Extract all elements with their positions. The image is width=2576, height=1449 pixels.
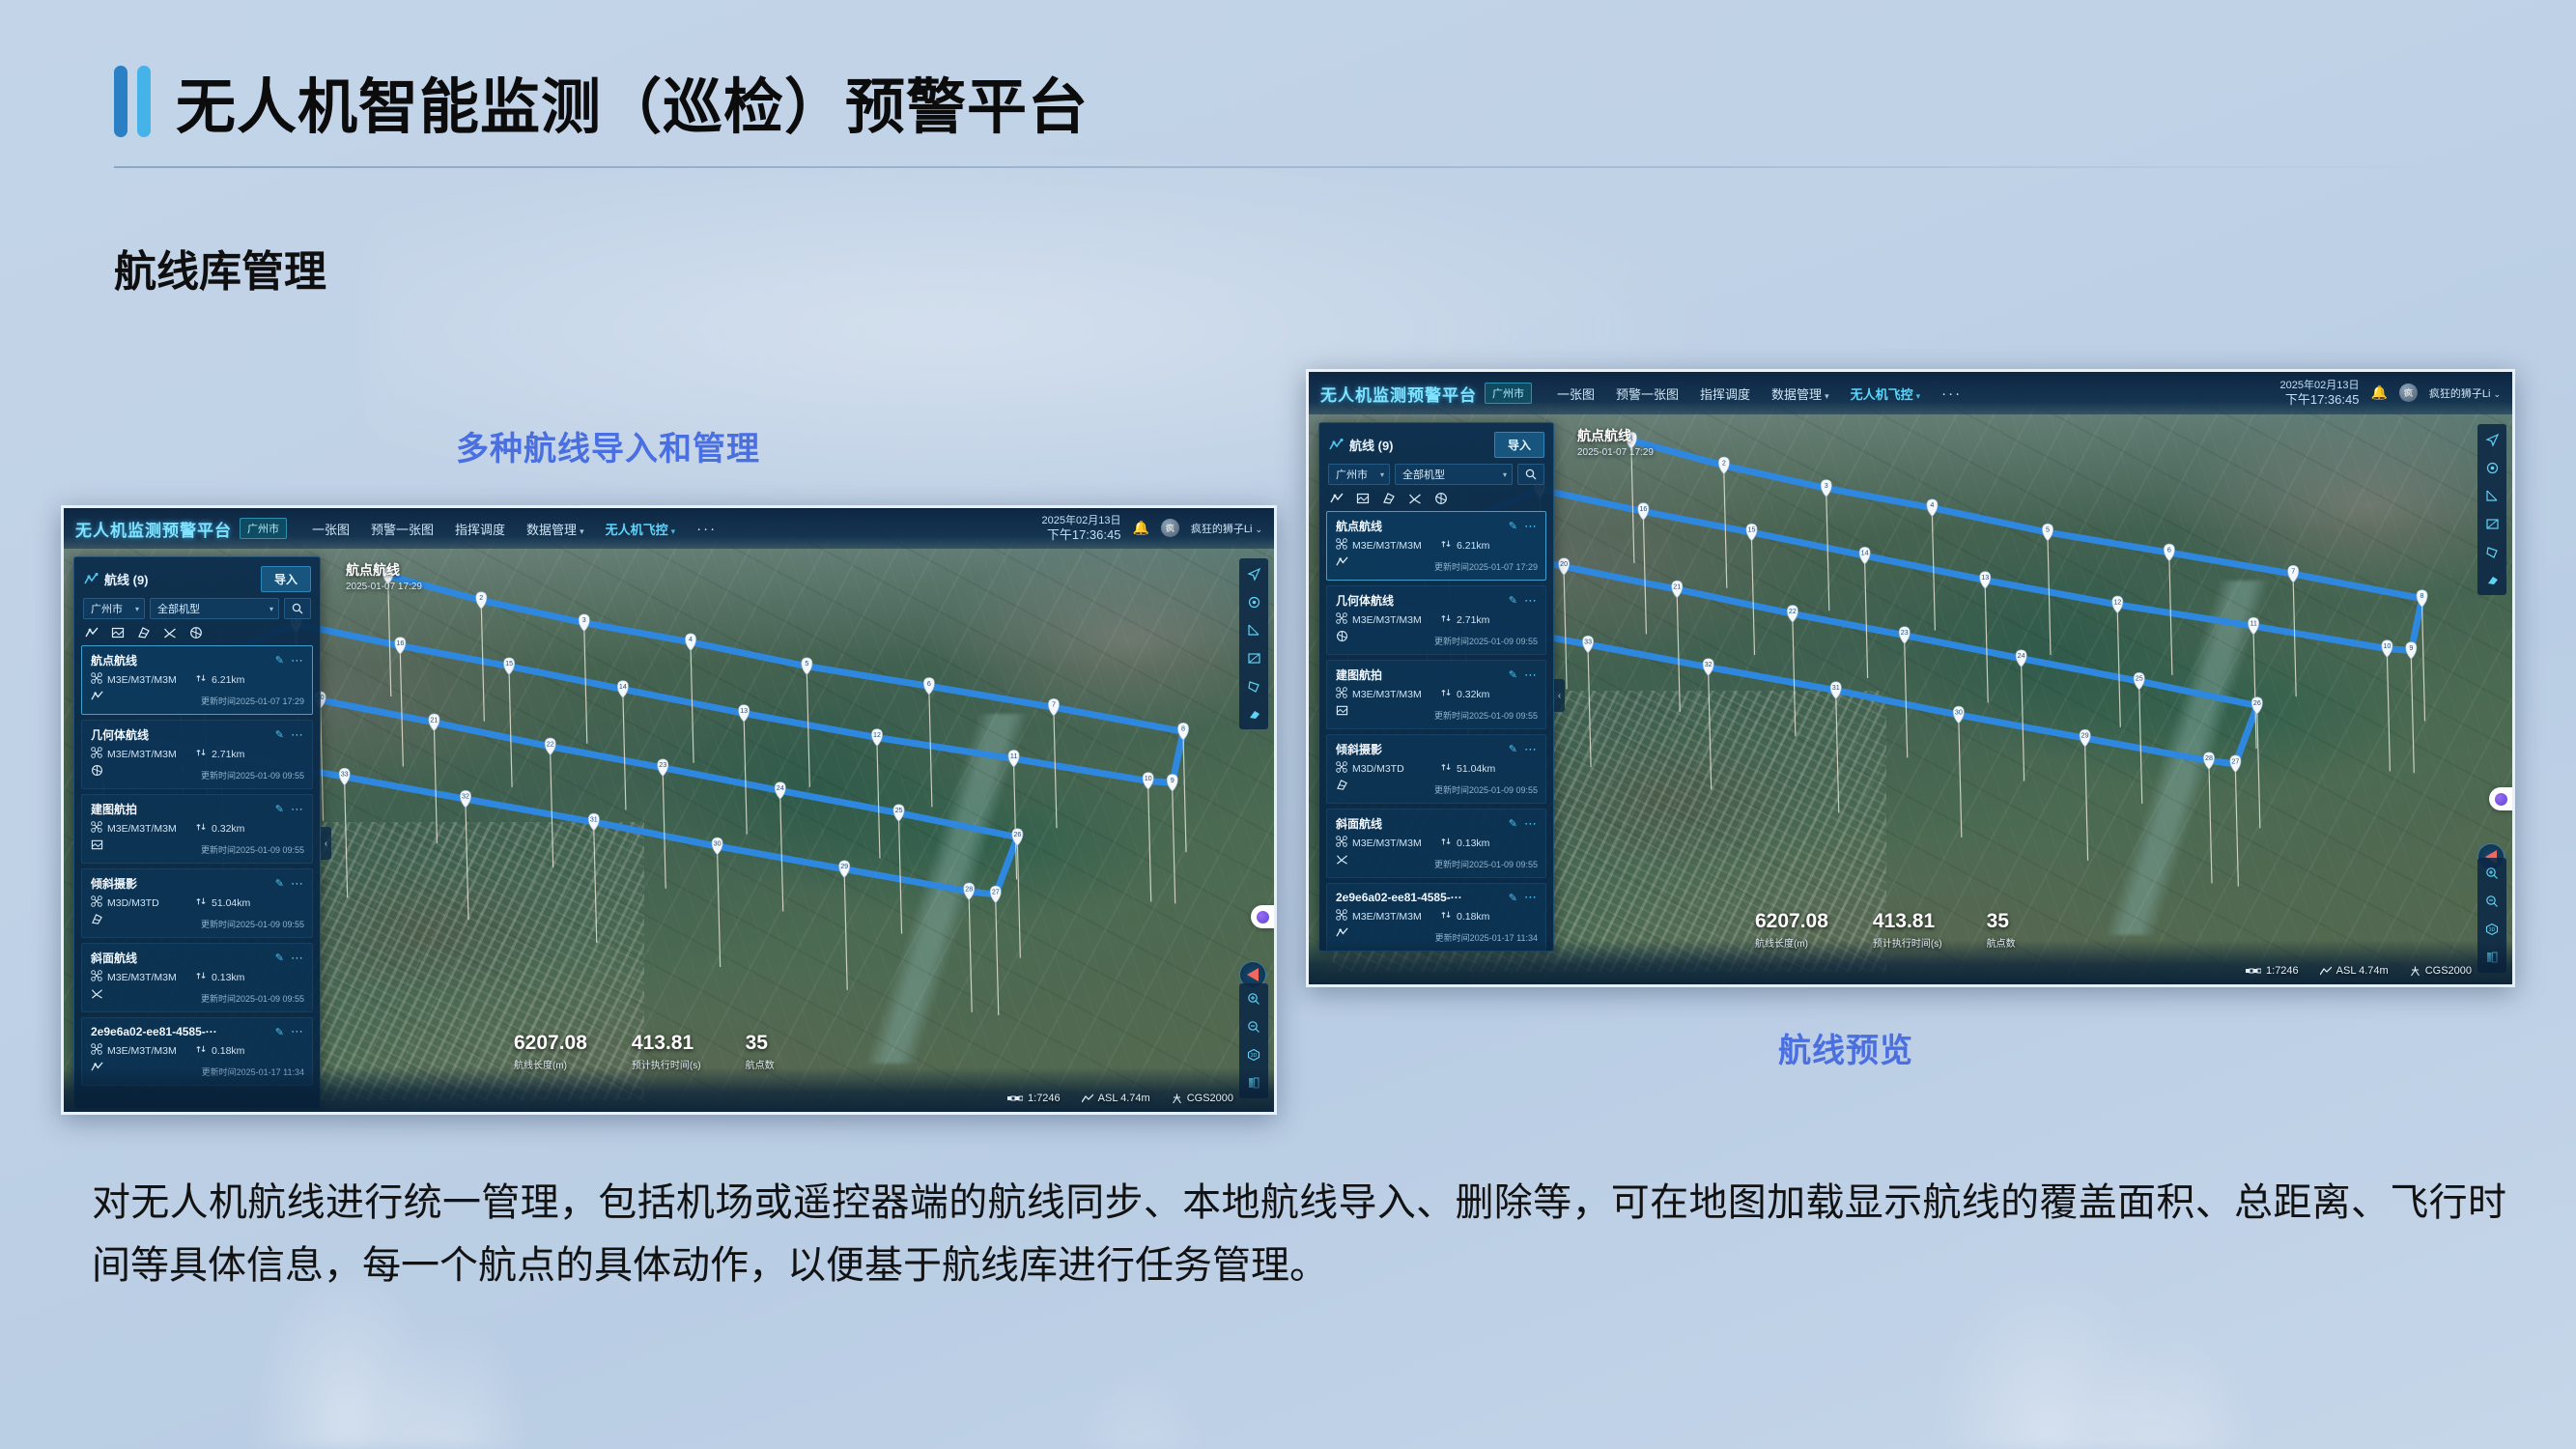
more-dots-icon[interactable]: ⋯ [1524,519,1538,534]
map-status-bar: 1:7246 ASL 4.74m CGS2000 [1007,1093,1233,1104]
selected-route-name: 航点航线 [346,560,422,580]
panel-collapse-button[interactable]: ‹ [1554,679,1565,712]
geometry-route-icon[interactable] [1434,492,1448,505]
route-distance: 51.04km [195,895,250,910]
coordinate-system-icon [1172,1094,1182,1104]
crs-indicator: CGS2000 [1172,1093,1233,1104]
edit-icon[interactable]: ✎ [1509,668,1517,681]
stat-item: 35航点数 [746,1033,775,1071]
city-chip[interactable]: 广州市 [1485,383,1532,404]
chevron-down-icon: ▾ [671,526,676,536]
distance-icon [195,747,207,761]
3d-view-icon[interactable]: 3D [2483,921,2501,938]
screenshot-route-management: 1234567891011121314151617181920212223242… [61,505,1277,1115]
route-card[interactable]: 几何体航线 ✎ ⋯ M3E/M3T/M3M 2.71km 更新时间2025-01… [81,720,313,789]
distance-icon [195,672,207,687]
nav-label: 预警一张图 [371,523,434,537]
route-model: M3D/M3TD [91,895,195,910]
selected-route-date: 2025-01-07 17:29 [1577,447,1654,458]
route-distance: 0.18km [1440,909,1489,923]
panel-header: 航线 (9) 导入 [1319,423,1553,464]
ai-assistant-button[interactable] [2489,787,2512,810]
distance-icon [195,970,207,984]
city-select-value: 广州市 [1336,467,1368,482]
route-icon [1329,439,1344,451]
panel-title: 航线 (9) [1349,436,1394,454]
stat-item: 413.81预计执行时间(s) [1873,911,1942,950]
username[interactable]: 疯狂的狮子Li⌄ [2429,385,2501,401]
route-updated-time: 更新时间2025-01-09 09:55 [201,769,304,781]
nav-item-0[interactable]: 一张图 [312,520,350,538]
page-title: 无人机智能监测（巡检）预警平台 [176,58,1089,145]
route-card[interactable]: 倾斜摄影 ✎ ⋯ M3D/M3TD 51.04km 更新时间2025-01-09… [1326,734,1546,804]
stat-label: 航线长度(m) [514,1057,587,1071]
more-dots-icon[interactable]: ⋯ [1524,668,1538,683]
main-nav: 一张图 预警一张图 指挥调度 数据管理▾ 无人机飞控▾ ··· [312,520,717,538]
coordinate-system-icon [2410,966,2420,977]
ai-assistant-button[interactable] [1251,905,1274,928]
nav-label: 无人机飞控 [1851,387,1913,402]
route-name: 2e9e6a02-ee81-4585-··· [1336,891,1462,904]
panel-filters: 广州市▾ 全部机型▾ [74,598,320,619]
selected-route-date: 2025-01-07 17:29 [346,582,422,592]
bottom-gradient [64,1067,1274,1112]
clock-date: 2025年02月13日 [1042,515,1121,527]
stat-item: 35航点数 [1987,911,2016,950]
city-select[interactable]: 广州市▾ [83,598,145,619]
mapping-photo-icon [1336,704,1348,722]
mapping-photo-icon [91,838,103,856]
screenshot-route-preview: 1234567891011121314151617181920212223242… [1306,369,2515,987]
oblique-photo-icon [91,913,103,930]
drone-icon [1336,538,1347,553]
city-select-value: 广州市 [91,601,123,616]
clock-time: 下午17:36:45 [2280,392,2360,407]
drone-icon [1336,761,1347,776]
selected-route-name: 航点航线 [1577,426,1654,445]
elevation-icon [1082,1094,1093,1103]
route-name: 航点航线 [91,652,137,668]
edit-icon[interactable]: ✎ [275,803,284,815]
slope-route-icon[interactable] [163,626,177,639]
svg-text:3D: 3D [2489,927,2496,933]
nav-label: 数据管理 [526,523,577,537]
route-model: M3E/M3T/M3M [91,821,195,836]
zoom-in-icon[interactable] [2483,865,2501,882]
route-model: M3E/M3T/M3M [1336,909,1440,923]
app-bar-right: 2025年02月13日 下午17:36:45 🔔 疯 疯狂的狮子Li⌄ [1042,515,1263,542]
slope-route-icon [91,987,103,1005]
selected-route-header: 航点航线 2025-01-07 17:29 [1577,426,1654,458]
chevron-down-icon: ▾ [1380,470,1384,479]
waypoint-route-icon[interactable] [85,626,99,639]
chevron-down-icon: ⌄ [1255,525,1262,534]
bell-icon[interactable]: 🔔 [2370,384,2387,401]
route-distance: 0.32km [1440,687,1489,701]
waypoint-route-icon[interactable] [1330,492,1344,505]
route-updated-time: 更新时间2025-01-09 09:55 [1434,783,1538,796]
drone-icon [91,970,102,984]
edit-icon[interactable]: ✎ [275,1026,284,1038]
locate-icon[interactable] [1245,593,1262,611]
distance-icon [1440,687,1452,701]
distance-icon [195,895,207,910]
more-dots-icon[interactable]: ⋯ [1524,742,1538,757]
route-distance: 0.32km [195,821,244,836]
route-model: M3E/M3T/M3M [91,970,195,984]
drone-icon [1336,836,1347,850]
panel-title: 航线 (9) [104,570,149,588]
edit-icon[interactable]: ✎ [275,952,284,964]
ai-brain-icon [2495,793,2507,806]
zoom-in-icon[interactable] [1245,990,1262,1008]
drone-icon [91,1043,102,1058]
stat-label: 航线长度(m) [1755,935,1828,950]
route-distance: 2.71km [1440,612,1489,627]
route-type-filter-bar [74,619,320,645]
elevation-indicator: ASL 4.74m [1082,1093,1150,1104]
scale-bar-icon [1007,1094,1023,1102]
nav-item-1[interactable]: 预警一张图 [1616,384,1679,403]
nav-label: 预警一张图 [1616,387,1679,402]
caption-right: 航线预览 [1778,1024,1913,1071]
chevron-down-icon: ▾ [1916,391,1921,401]
oblique-photo-icon[interactable] [1382,492,1396,505]
drone-icon [91,821,102,836]
nav-label: 无人机飞控 [606,523,668,537]
more-dots-icon[interactable]: ⋯ [1524,816,1538,832]
nav-item-4[interactable]: 无人机飞控▾ [606,520,676,538]
username-label: 疯狂的狮子Li [2429,388,2491,400]
nav-label: 指挥调度 [1700,387,1750,402]
route-distance: 6.21km [195,672,244,687]
chevron-down-icon: ▾ [1825,391,1829,401]
model-select-value: 全部机型 [157,601,200,616]
route-card[interactable]: 斜面航线 ✎ ⋯ M3E/M3T/M3M 0.13km 更新时间2025-01-… [81,943,313,1012]
route-type-filter-bar [1319,485,1553,511]
waypoint-route-icon [91,690,103,707]
city-chip[interactable]: 广州市 [240,518,287,539]
map-river [1814,581,2515,936]
route-model: M3E/M3T/M3M [91,1043,195,1058]
drone-icon [1336,909,1347,923]
app-bar-right: 2025年02月13日 下午17:36:45 🔔 疯 疯狂的狮子Li⌄ [2280,380,2502,407]
more-dots-icon[interactable]: ⋯ [291,876,304,892]
route-distance: 51.04km [1440,761,1495,776]
route-icon [84,573,99,585]
measure-area-icon[interactable] [1245,649,1262,667]
username[interactable]: 疯狂的狮子Li⌄ [1191,521,1262,536]
scale-value: 1:7246 [1028,1093,1061,1104]
search-icon[interactable] [1517,464,1544,485]
title-accent-bars [114,66,151,137]
more-dots-icon[interactable]: ⋯ [291,802,304,817]
crs-indicator: CGS2000 [2410,965,2472,977]
bell-icon[interactable]: 🔔 [1132,520,1148,536]
stat-item: 413.81预计执行时间(s) [632,1033,701,1071]
nav-label: 指挥调度 [455,523,505,537]
zoom-out-icon[interactable] [2483,893,2501,910]
route-model: M3D/M3TD [1336,761,1440,776]
zoom-out-icon[interactable] [1245,1018,1262,1036]
route-card[interactable]: 航点航线 ✎ ⋯ M3E/M3T/M3M 6.21km 更新时间2025-01-… [1326,511,1546,581]
more-dots-icon[interactable]: ⋯ [1524,890,1538,905]
route-updated-time: 更新时间2025-01-09 09:55 [201,992,304,1005]
import-button[interactable]: 导入 [261,566,311,592]
stat-item: 6207.08航线长度(m) [1755,911,1828,950]
avatar[interactable]: 疯 [1161,519,1179,537]
route-model: M3E/M3T/M3M [1336,612,1440,627]
clock: 2025年02月13日 下午17:36:45 [1042,515,1121,542]
more-dots-icon[interactable]: ⋯ [291,951,304,966]
route-distance: 0.13km [1440,836,1489,850]
route-stats: 6207.08航线长度(m) 413.81预计执行时间(s) 35航点数 [514,1033,775,1071]
route-library-panel: 航线 (9) 导入 广州市▾ 全部机型▾ 航点航线 ✎ ⋯ [1318,422,1554,952]
route-name: 2e9e6a02-ee81-4585-··· [91,1025,217,1038]
measure-area-icon[interactable] [2483,515,2501,532]
route-card[interactable]: 倾斜摄影 ✎ ⋯ M3D/M3TD 51.04km 更新时间2025-01-09… [81,868,313,938]
city-select[interactable]: 广州市▾ [1328,464,1390,485]
scale-bar-icon [2246,967,2261,975]
mapping-photo-icon[interactable] [111,626,125,639]
app-top-bar: 无人机监测预警平台 广州市 一张图 预警一张图 指挥调度 数据管理▾ 无人机飞控… [64,508,1274,549]
route-updated-time: 更新时间2025-01-09 09:55 [1434,635,1538,647]
route-updated-time: 更新时间2025-01-09 09:55 [201,918,304,930]
nav-item-3[interactable]: 数据管理▾ [1771,384,1829,403]
distance-icon [1440,909,1452,923]
model-select[interactable]: 全部机型▾ [150,598,279,619]
3d-view-icon[interactable]: 3D [1245,1046,1262,1064]
app-brand: 无人机监测预警平台 [1320,382,1477,406]
route-distance: 2.71km [195,747,244,761]
route-updated-time: 更新时间2025-01-09 09:55 [1434,709,1538,722]
nav-label: 一张图 [312,523,350,537]
drone-icon [91,747,102,761]
route-name: 几何体航线 [91,726,149,743]
route-updated-time: 更新时间2025-01-09 09:55 [1434,858,1538,870]
map-status-bar: 1:7246 ASL 4.74m CGS2000 [2246,965,2472,977]
drone-icon [91,672,102,687]
oblique-photo-icon [1336,779,1348,796]
geometry-route-icon[interactable] [189,626,203,639]
nav-item-0[interactable]: 一张图 [1557,384,1595,403]
compass-needle [1247,968,1259,981]
map-river [572,714,1277,1065]
app-top-bar: 无人机监测预警平台 广州市 一张图 预警一张图 指挥调度 数据管理▾ 无人机飞控… [1309,372,2512,414]
stat-label: 预计执行时间(s) [632,1057,701,1071]
elevation-value: ASL 4.74m [1098,1093,1150,1104]
route-updated-time: 更新时间2025-01-09 09:55 [201,843,304,856]
measure-angle-icon[interactable] [2483,487,2501,504]
description-paragraph: 对无人机航线进行统一管理，包括机场或遥控器端的航线同步、本地航线导入、删除等，可… [92,1172,2506,1297]
app-brand: 无人机监测预警平台 [75,517,232,541]
chevron-down-icon: ⌄ [2493,389,2501,399]
nav-label: 一张图 [1557,387,1595,402]
svg-text:3D: 3D [1251,1053,1258,1059]
route-stats: 6207.08航线长度(m) 413.81预计执行时间(s) 35航点数 [1755,911,2016,950]
measure-angle-icon[interactable] [1245,621,1262,639]
waypoint-route-icon [1336,555,1348,573]
more-dots-icon[interactable]: ⋯ [291,653,304,668]
oblique-photo-icon[interactable] [137,626,151,639]
distance-icon [195,821,207,836]
nav-item-2[interactable]: 指挥调度 [1700,384,1750,403]
more-dots-icon[interactable]: ⋯ [291,1024,304,1039]
edit-icon[interactable]: ✎ [275,877,284,890]
model-select[interactable]: 全部机型▾ [1395,464,1513,485]
nav-item-3[interactable]: 数据管理▾ [526,520,584,538]
section-title: 航线库管理 [114,237,326,298]
slope-route-icon [1336,853,1348,870]
nav-label: 数据管理 [1771,387,1822,402]
edit-icon[interactable]: ✎ [1509,743,1517,755]
eraser-icon[interactable] [2483,571,2501,588]
route-updated-time: 更新时间2025-01-07 17:29 [1434,560,1538,573]
elevation-indicator: ASL 4.74m [2320,965,2389,977]
scale-value: 1:7246 [2266,965,2299,977]
stat-label: 航点数 [746,1057,775,1071]
page-header: 无人机智能监测（巡检）预警平台 [114,58,2461,168]
chevron-down-icon: ▾ [135,605,139,613]
drone-icon [1336,687,1347,701]
more-dots-icon[interactable]: ⋯ [1524,593,1538,609]
route-card[interactable]: 建图航拍 ✎ ⋯ M3E/M3T/M3M 0.32km 更新时间2025-01-… [1326,660,1546,729]
route-updated-time: 更新时间2025-01-07 17:29 [201,695,304,707]
clock-time: 下午17:36:45 [1042,527,1121,542]
slope-route-icon[interactable] [1408,492,1422,505]
stat-value: 35 [1987,911,2016,933]
import-button[interactable]: 导入 [1494,432,1544,458]
route-model: M3E/M3T/M3M [1336,687,1440,701]
route-distance: 6.21km [1440,538,1489,553]
route-card[interactable]: 几何体航线 ✎ ⋯ M3E/M3T/M3M 2.71km 更新时间2025-01… [1326,585,1546,655]
clock-date: 2025年02月13日 [2280,380,2360,392]
main-nav: 一张图 预警一张图 指挥调度 数据管理▾ 无人机飞控▾ ··· [1557,384,1962,403]
route-list[interactable]: 航点航线 ✎ ⋯ M3E/M3T/M3M 6.21km 更新时间2025-01-… [74,645,320,1086]
distance-icon [195,1043,207,1058]
ai-brain-icon [1257,911,1269,923]
draw-polygon-icon[interactable] [2483,543,2501,560]
model-select-value: 全部机型 [1402,467,1445,482]
panel-collapse-button[interactable]: ‹ [321,827,331,860]
eraser-icon[interactable] [1245,705,1262,723]
description-text: 对无人机航线进行统一管理，包括机场或遥控器端的航线同步、本地航线导入、删除等，可… [92,1172,2506,1297]
chevron-down-icon: ▾ [580,526,584,536]
chevron-down-icon: ▾ [1503,470,1507,479]
nav-item-4[interactable]: 无人机飞控▾ [1851,384,1921,403]
geometry-route-icon [91,764,103,781]
route-model: M3E/M3T/M3M [1336,538,1440,553]
caption-left: 多种航线导入和管理 [456,422,760,469]
drone-icon [1336,612,1347,627]
edit-icon[interactable]: ✎ [275,654,284,667]
crs-value: CGS2000 [1187,1093,1233,1104]
avatar[interactable]: 疯 [2399,384,2418,402]
route-name: 倾斜摄影 [1336,741,1382,757]
route-list[interactable]: 航点航线 ✎ ⋯ M3E/M3T/M3M 6.21km 更新时间2025-01-… [1319,511,1553,952]
panel-filters: 广州市▾ 全部机型▾ [1319,464,1553,485]
nav-item-1[interactable]: 预警一张图 [371,520,434,538]
stat-value: 35 [746,1033,775,1055]
selected-route-header: 航点航线 2025-01-07 17:29 [346,560,422,592]
route-distance: 0.18km [195,1043,244,1058]
route-name: 斜面航线 [91,950,137,966]
nav-item-2[interactable]: 指挥调度 [455,520,505,538]
nav-more-icon[interactable]: ··· [1941,385,1962,402]
edit-icon[interactable]: ✎ [1509,594,1517,607]
nav-more-icon[interactable]: ··· [696,521,717,537]
stat-value: 6207.08 [1755,911,1828,933]
stat-label: 预计执行时间(s) [1873,935,1942,950]
route-library-panel: 航线 (9) 导入 广州市▾ 全部机型▾ 航点航线 ✎ ⋯ [73,556,321,1109]
draw-polygon-icon[interactable] [1245,677,1262,695]
drone-icon [91,895,102,910]
clock: 2025年02月13日 下午17:36:45 [2280,380,2360,407]
scale-indicator: 1:7246 [1007,1093,1061,1104]
route-model: M3E/M3T/M3M [91,672,195,687]
panel-header: 航线 (9) 导入 [74,557,320,598]
route-model: M3E/M3T/M3M [91,747,195,761]
route-name: 航点航线 [1336,518,1382,534]
edit-icon[interactable]: ✎ [1509,520,1517,532]
stat-label: 航点数 [1987,935,2016,950]
distance-icon [1440,612,1452,627]
stat-value: 6207.08 [514,1033,587,1055]
locate-icon[interactable] [2483,459,2501,476]
search-icon[interactable] [284,598,311,619]
navigate-icon[interactable] [1245,565,1262,582]
crs-value: CGS2000 [2425,965,2472,977]
edit-icon[interactable]: ✎ [1509,817,1517,830]
route-distance: 0.13km [195,970,244,984]
geometry-route-icon [1336,630,1348,647]
stat-value: 413.81 [632,1033,701,1055]
stat-item: 6207.08航线长度(m) [514,1033,587,1071]
elevation-icon [2320,966,2332,976]
route-name: 倾斜摄影 [91,875,137,892]
map-toolbar-top [2477,424,2506,595]
route-name: 几何体航线 [1336,592,1394,609]
edit-icon[interactable]: ✎ [275,728,284,741]
route-card[interactable]: 斜面航线 ✎ ⋯ M3E/M3T/M3M 0.13km 更新时间2025-01-… [1326,809,1546,878]
route-card[interactable]: 建图航拍 ✎ ⋯ M3E/M3T/M3M 0.32km 更新时间2025-01-… [81,794,313,864]
distance-icon [1440,761,1452,776]
distance-icon [1440,538,1452,553]
edit-icon[interactable]: ✎ [1509,892,1517,904]
route-name: 建图航拍 [91,801,137,817]
navigate-icon[interactable] [2483,431,2501,448]
stat-value: 413.81 [1873,911,1942,933]
more-dots-icon[interactable]: ⋯ [291,727,304,743]
route-card[interactable]: 航点航线 ✎ ⋯ M3E/M3T/M3M 6.21km 更新时间2025-01-… [81,645,313,715]
route-model: M3E/M3T/M3M [1336,836,1440,850]
map-toolbar-top [1239,558,1268,729]
route-name: 斜面航线 [1336,815,1382,832]
route-name: 建图航拍 [1336,667,1382,683]
scale-indicator: 1:7246 [2246,965,2299,977]
mapping-photo-icon[interactable] [1356,492,1370,505]
chevron-down-icon: ▾ [269,605,273,613]
header-divider [114,166,2461,168]
elevation-value: ASL 4.74m [2336,965,2389,977]
distance-icon [1440,836,1452,850]
username-label: 疯狂的狮子Li [1191,524,1253,535]
